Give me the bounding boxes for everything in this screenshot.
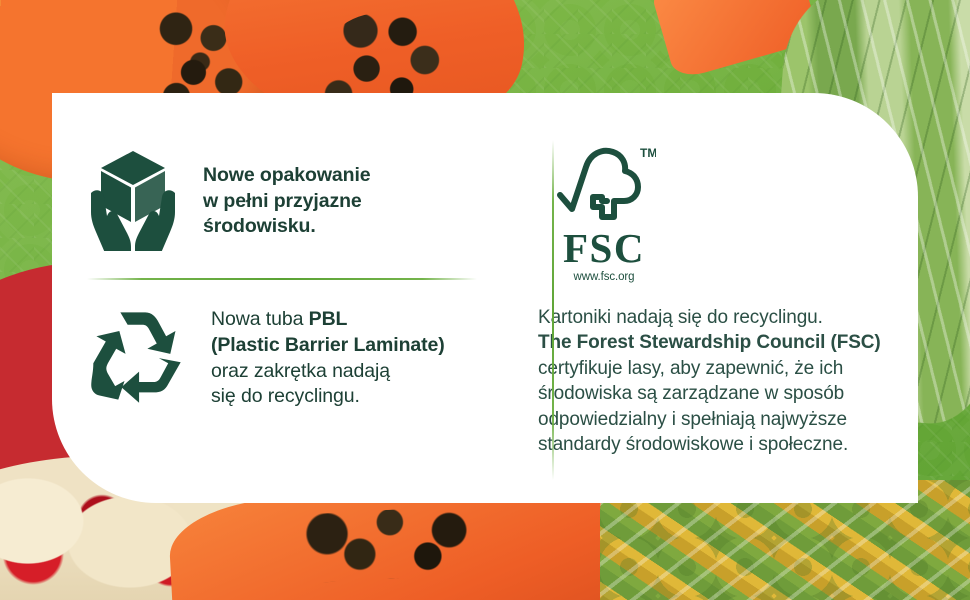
fsc-rest-text: certyfikuje lasy, aby zapewnić, że ich ś… [538, 358, 848, 455]
feature-recyclable-tube-text: Nowa tuba PBL (Plastic Barrier Laminate)… [211, 307, 445, 411]
fsc-bold-phrase: The Forest Stewardship Council (FSC) [538, 332, 881, 353]
right-column: TM FSC www.fsc.org Kartoniki nadają się … [500, 93, 918, 503]
tube-line-4: się do recyclingu. [211, 385, 360, 407]
fsc-wordmark: FSC [552, 228, 656, 269]
content-card: Nowe opakowanie w pełni przyjazne środow… [52, 93, 918, 503]
feature-line-1: Nowe opakowanie [203, 164, 371, 186]
horizontal-divider [87, 278, 477, 280]
tube-line-3: oraz zakrętka nadają [211, 360, 390, 382]
feature-recyclable-tube: Nowa tuba PBL (Plastic Barrier Laminate)… [85, 304, 500, 413]
eco-packaging-banner: Nowe opakowanie w pełni przyjazne środow… [0, 0, 970, 600]
fsc-logo: TM FSC www.fsc.org [552, 143, 656, 283]
tube-line-1-prefix: Nowa tuba [211, 308, 309, 330]
tube-line-2-bold: (Plastic Barrier Laminate) [211, 334, 445, 356]
fsc-tree-checkmark-icon: TM [552, 143, 656, 225]
fsc-url: www.fsc.org [552, 271, 656, 283]
feature-eco-packaging: Nowe opakowanie w pełni przyjazne środow… [85, 147, 500, 256]
left-column: Nowe opakowanie w pełni przyjazne środow… [52, 93, 500, 503]
recycle-icon [85, 304, 189, 413]
feature-line-3: środowisku. [203, 215, 316, 237]
tube-line-1-bold: PBL [309, 308, 348, 330]
fsc-lead-line: Kartoniki nadają się do recyclingu. [538, 305, 888, 330]
fsc-description: Kartoniki nadają się do recyclingu. The … [538, 305, 888, 458]
trademark-symbol: TM [640, 146, 656, 160]
feature-line-2: w pełni przyjazne [203, 190, 362, 212]
hands-holding-box-icon [85, 147, 181, 256]
feature-eco-packaging-text: Nowe opakowanie w pełni przyjazne środow… [203, 163, 371, 241]
